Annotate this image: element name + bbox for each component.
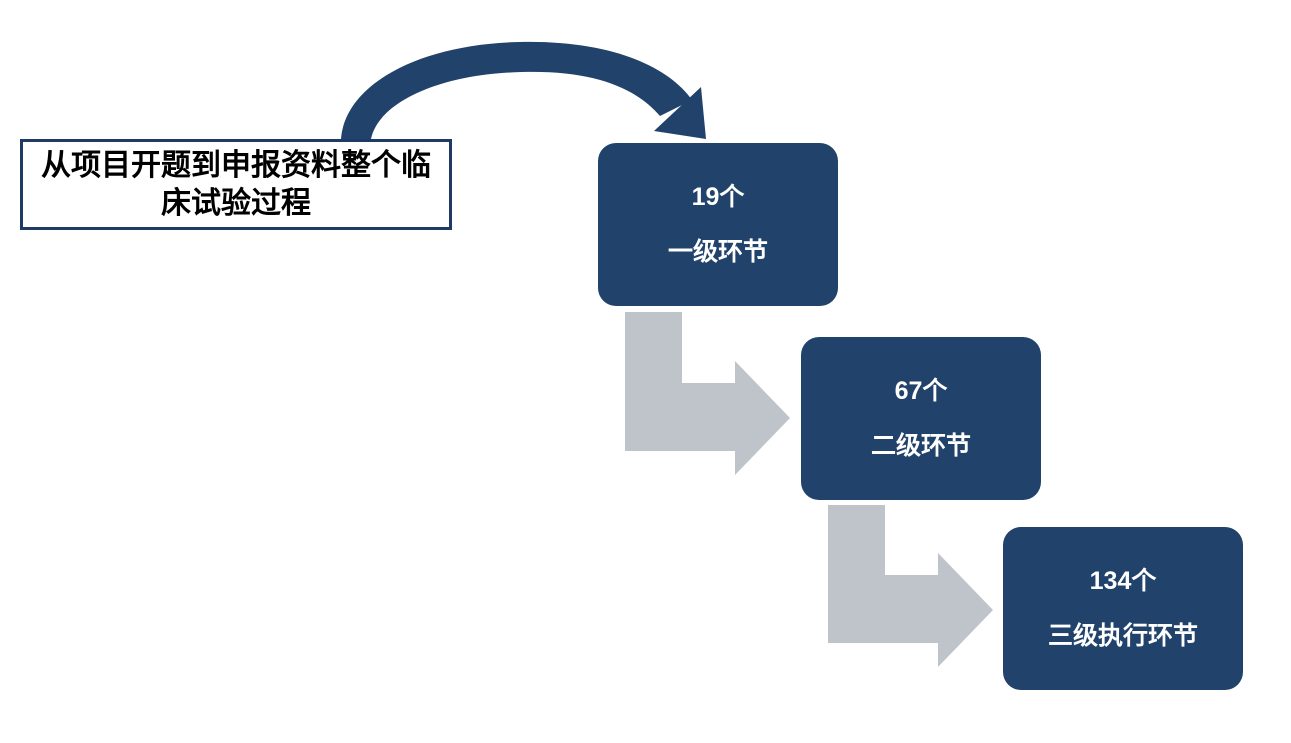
elbow-arrow-icon-1 (625, 312, 790, 475)
stage-label-level-1: 一级环节 (668, 240, 768, 265)
stage-box-level-1: 19个 一级环节 (598, 143, 838, 306)
stage-box-level-3: 134个 三级执行环节 (1003, 527, 1243, 690)
elbow-arrow-icon-2 (828, 505, 993, 667)
caption-text: 从项目开题到申报资料整个临床试验过程 (31, 147, 441, 222)
stage-box-level-2: 67个 二级环节 (801, 337, 1041, 500)
stage-count-level-2: 67个 (895, 379, 948, 404)
stage-label-level-2: 二级环节 (871, 434, 971, 459)
stage-count-level-1: 19个 (692, 185, 745, 210)
caption-box: 从项目开题到申报资料整个临床试验过程 (20, 139, 452, 230)
curved-arrow-icon (341, 42, 706, 139)
stage-label-level-3: 三级执行环节 (1048, 624, 1198, 649)
stage-count-level-3: 134个 (1090, 569, 1157, 594)
slide-canvas: 从项目开题到申报资料整个临床试验过程 19个 一级环节 67个 二级环节 134… (0, 0, 1291, 743)
